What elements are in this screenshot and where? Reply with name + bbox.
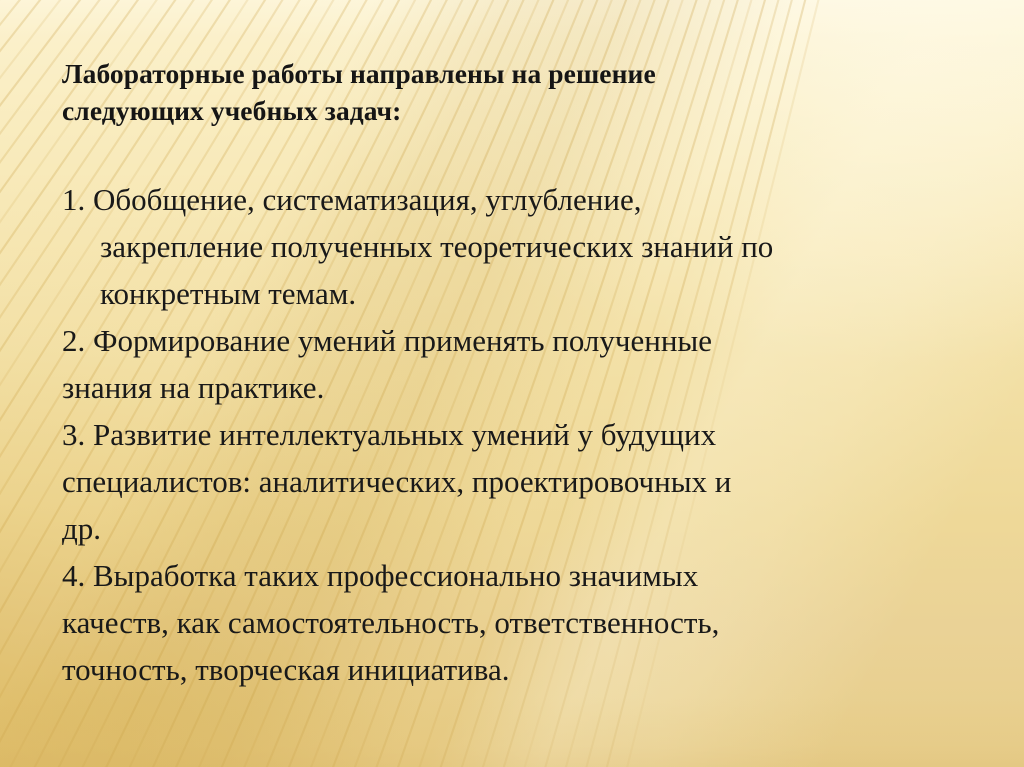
task-line: 2. Формирование умений применять получен… xyxy=(62,317,967,364)
task-line: др. xyxy=(62,505,967,552)
slide-canvas: Лабораторные работы направлены на решени… xyxy=(0,0,1024,767)
task-list-item: 1. Обобщение, систематизация, углубление… xyxy=(62,176,967,317)
task-line: 3. Развитие интеллектуальных умений у бу… xyxy=(62,411,967,458)
task-line: закрепление полученных теоретических зна… xyxy=(62,223,967,270)
slide-title: Лабораторные работы направлены на решени… xyxy=(62,55,862,129)
slide-content: Лабораторные работы направлены на решени… xyxy=(0,0,1024,767)
task-line: 1. Обобщение, систематизация, углубление… xyxy=(62,176,967,223)
slide-title-line: Лабораторные работы направлены на решени… xyxy=(62,55,862,92)
task-line: конкретным темам. xyxy=(62,270,967,317)
task-list-item: 2. Формирование умений применять получен… xyxy=(62,317,967,411)
task-line: 4. Выработка таких профессионально значи… xyxy=(62,552,967,599)
task-line: знания на практике. xyxy=(62,364,967,411)
task-list-item: 4. Выработка таких профессионально значи… xyxy=(62,552,967,693)
task-line: качеств, как самостоятельность, ответств… xyxy=(62,599,967,646)
task-line: специалистов: аналитических, проектирово… xyxy=(62,458,967,505)
task-list-item: 3. Развитие интеллектуальных умений у бу… xyxy=(62,411,967,552)
task-line: точность, творческая инициатива. xyxy=(62,646,967,693)
task-list: 1. Обобщение, систематизация, углубление… xyxy=(62,176,967,693)
slide-title-line: следующих учебных задач: xyxy=(62,92,862,129)
